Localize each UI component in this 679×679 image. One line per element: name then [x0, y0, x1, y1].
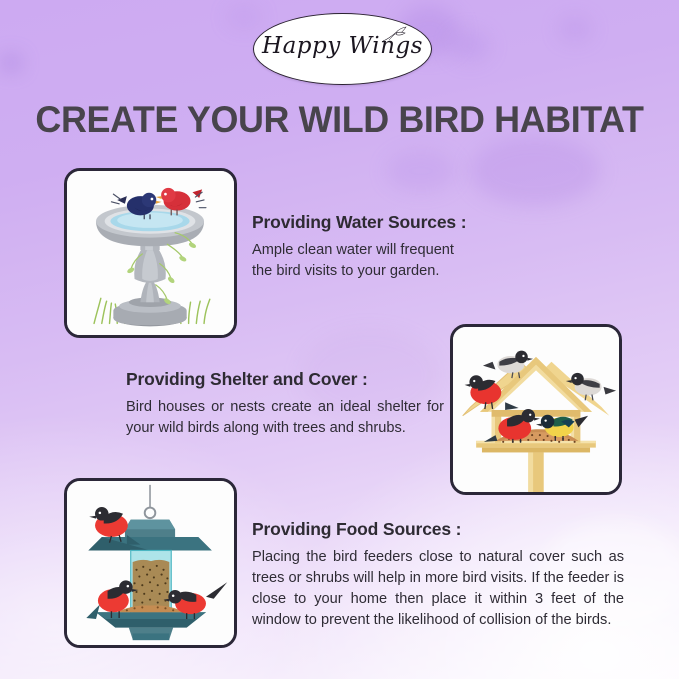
- bird-house-icon: [453, 327, 619, 492]
- watercolor-blotch: [0, 54, 22, 72]
- brand-name: Happy Wings: [254, 33, 431, 59]
- section-body-shelter: Bird houses or nests create an ideal she…: [126, 397, 444, 439]
- section-shelter: Providing Shelter and Cover : Bird house…: [126, 369, 444, 439]
- watercolor-blotch: [226, 4, 262, 30]
- watercolor-blotch: [558, 16, 592, 42]
- watercolor-blotch: [450, 30, 490, 62]
- page-title: CREATE YOUR WILD BIRD HABITAT: [10, 99, 669, 141]
- bird-bath-icon: [67, 171, 234, 335]
- section-heading-shelter: Providing Shelter and Cover :: [126, 369, 444, 390]
- section-body-food: Placing the bird feeders close to natura…: [252, 547, 624, 632]
- brand-logo: Happy Wings: [253, 13, 432, 85]
- section-heading-food: Providing Food Sources :: [252, 519, 624, 540]
- tube-feeder-illustration: [64, 478, 237, 648]
- tube-feeder-icon: [67, 481, 234, 645]
- poster-canvas: Happy Wings CREATE YOUR WILD BIRD HABITA…: [0, 0, 679, 679]
- watercolor-blotch: [470, 136, 600, 206]
- section-water: Providing Water Sources : Ample clean wa…: [252, 212, 474, 282]
- watercolor-blotch: [386, 150, 456, 192]
- bird-bath-illustration: [64, 168, 237, 338]
- section-food: Providing Food Sources : Placing the bir…: [252, 519, 624, 632]
- bird-house-illustration: [450, 324, 622, 495]
- section-body-water: Ample clean water will frequent the bird…: [252, 240, 474, 282]
- section-heading-water: Providing Water Sources :: [252, 212, 474, 233]
